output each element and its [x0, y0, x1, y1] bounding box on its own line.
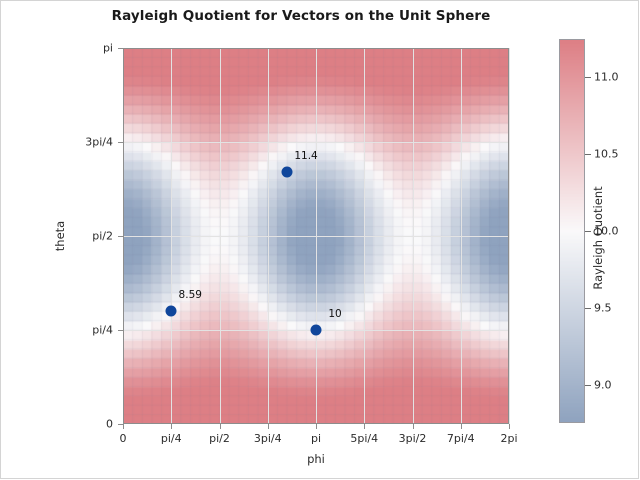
x-tick-mark — [461, 424, 462, 429]
figure-frame: Rayleigh Quotient for Vectors on the Uni… — [0, 0, 639, 479]
y-tick-label: 0 — [106, 418, 113, 431]
x-tick-mark — [268, 424, 269, 429]
data-point-marker[interactable] — [166, 306, 177, 317]
x-tick-mark — [123, 424, 124, 429]
x-tick-label: pi — [311, 432, 321, 445]
colorbar-tick-label: 9.5 — [594, 301, 612, 314]
x-tick-mark — [413, 424, 414, 429]
gridline-vertical — [509, 48, 510, 424]
colorbar-tick-mark — [585, 385, 591, 386]
y-tick-label: pi/2 — [92, 230, 113, 243]
x-axis-title: phi — [123, 452, 509, 466]
x-tick-label: 2pi — [500, 432, 517, 445]
y-tick-label: pi/4 — [92, 324, 113, 337]
colorbar-tick-mark — [585, 308, 591, 309]
y-tick-label: pi — [103, 42, 113, 55]
x-tick-label: 3pi/2 — [399, 432, 427, 445]
colorbar-tick-mark — [585, 77, 591, 78]
data-point-marker[interactable] — [311, 325, 322, 336]
x-tick-mark — [316, 424, 317, 429]
x-tick-label: 3pi/4 — [254, 432, 282, 445]
colorbar-tick-label: 11.0 — [594, 71, 619, 84]
x-tick-label: 7pi/4 — [447, 432, 475, 445]
colorbar-tick-label: 10.5 — [594, 148, 619, 161]
x-tick-label: pi/2 — [209, 432, 230, 445]
data-point-marker[interactable] — [282, 167, 293, 178]
plot-area: 0pi/4pi/23pi/4pi5pi/43pi/27pi/42pi 0pi/4… — [123, 48, 509, 424]
data-point-label: 8.59 — [179, 289, 202, 301]
chart-title: Rayleigh Quotient for Vectors on the Uni… — [1, 8, 601, 24]
data-point-label: 11.4 — [294, 150, 317, 162]
colorbar: 9.09.510.010.511.0 — [559, 39, 585, 423]
colorbar-tick-mark — [585, 154, 591, 155]
x-tick-mark — [509, 424, 510, 429]
y-tick-mark — [118, 330, 123, 331]
y-tick-mark — [118, 424, 123, 425]
x-tick-mark — [171, 424, 172, 429]
heatmap-canvas — [123, 48, 509, 424]
x-tick-mark — [220, 424, 221, 429]
x-tick-label: 0 — [120, 432, 127, 445]
data-point-label: 10 — [328, 308, 341, 320]
y-tick-label: 3pi/4 — [85, 136, 113, 149]
y-tick-mark — [118, 236, 123, 237]
colorbar-title: Rayleigh Quotient — [591, 186, 605, 289]
colorbar-tick-label: 9.0 — [594, 378, 612, 391]
y-axis-title: theta — [53, 221, 67, 251]
x-tick-label: 5pi/4 — [350, 432, 378, 445]
y-tick-mark — [118, 142, 123, 143]
y-tick-mark — [118, 48, 123, 49]
colorbar-gradient — [559, 39, 585, 423]
x-tick-label: pi/4 — [161, 432, 182, 445]
x-tick-mark — [364, 424, 365, 429]
